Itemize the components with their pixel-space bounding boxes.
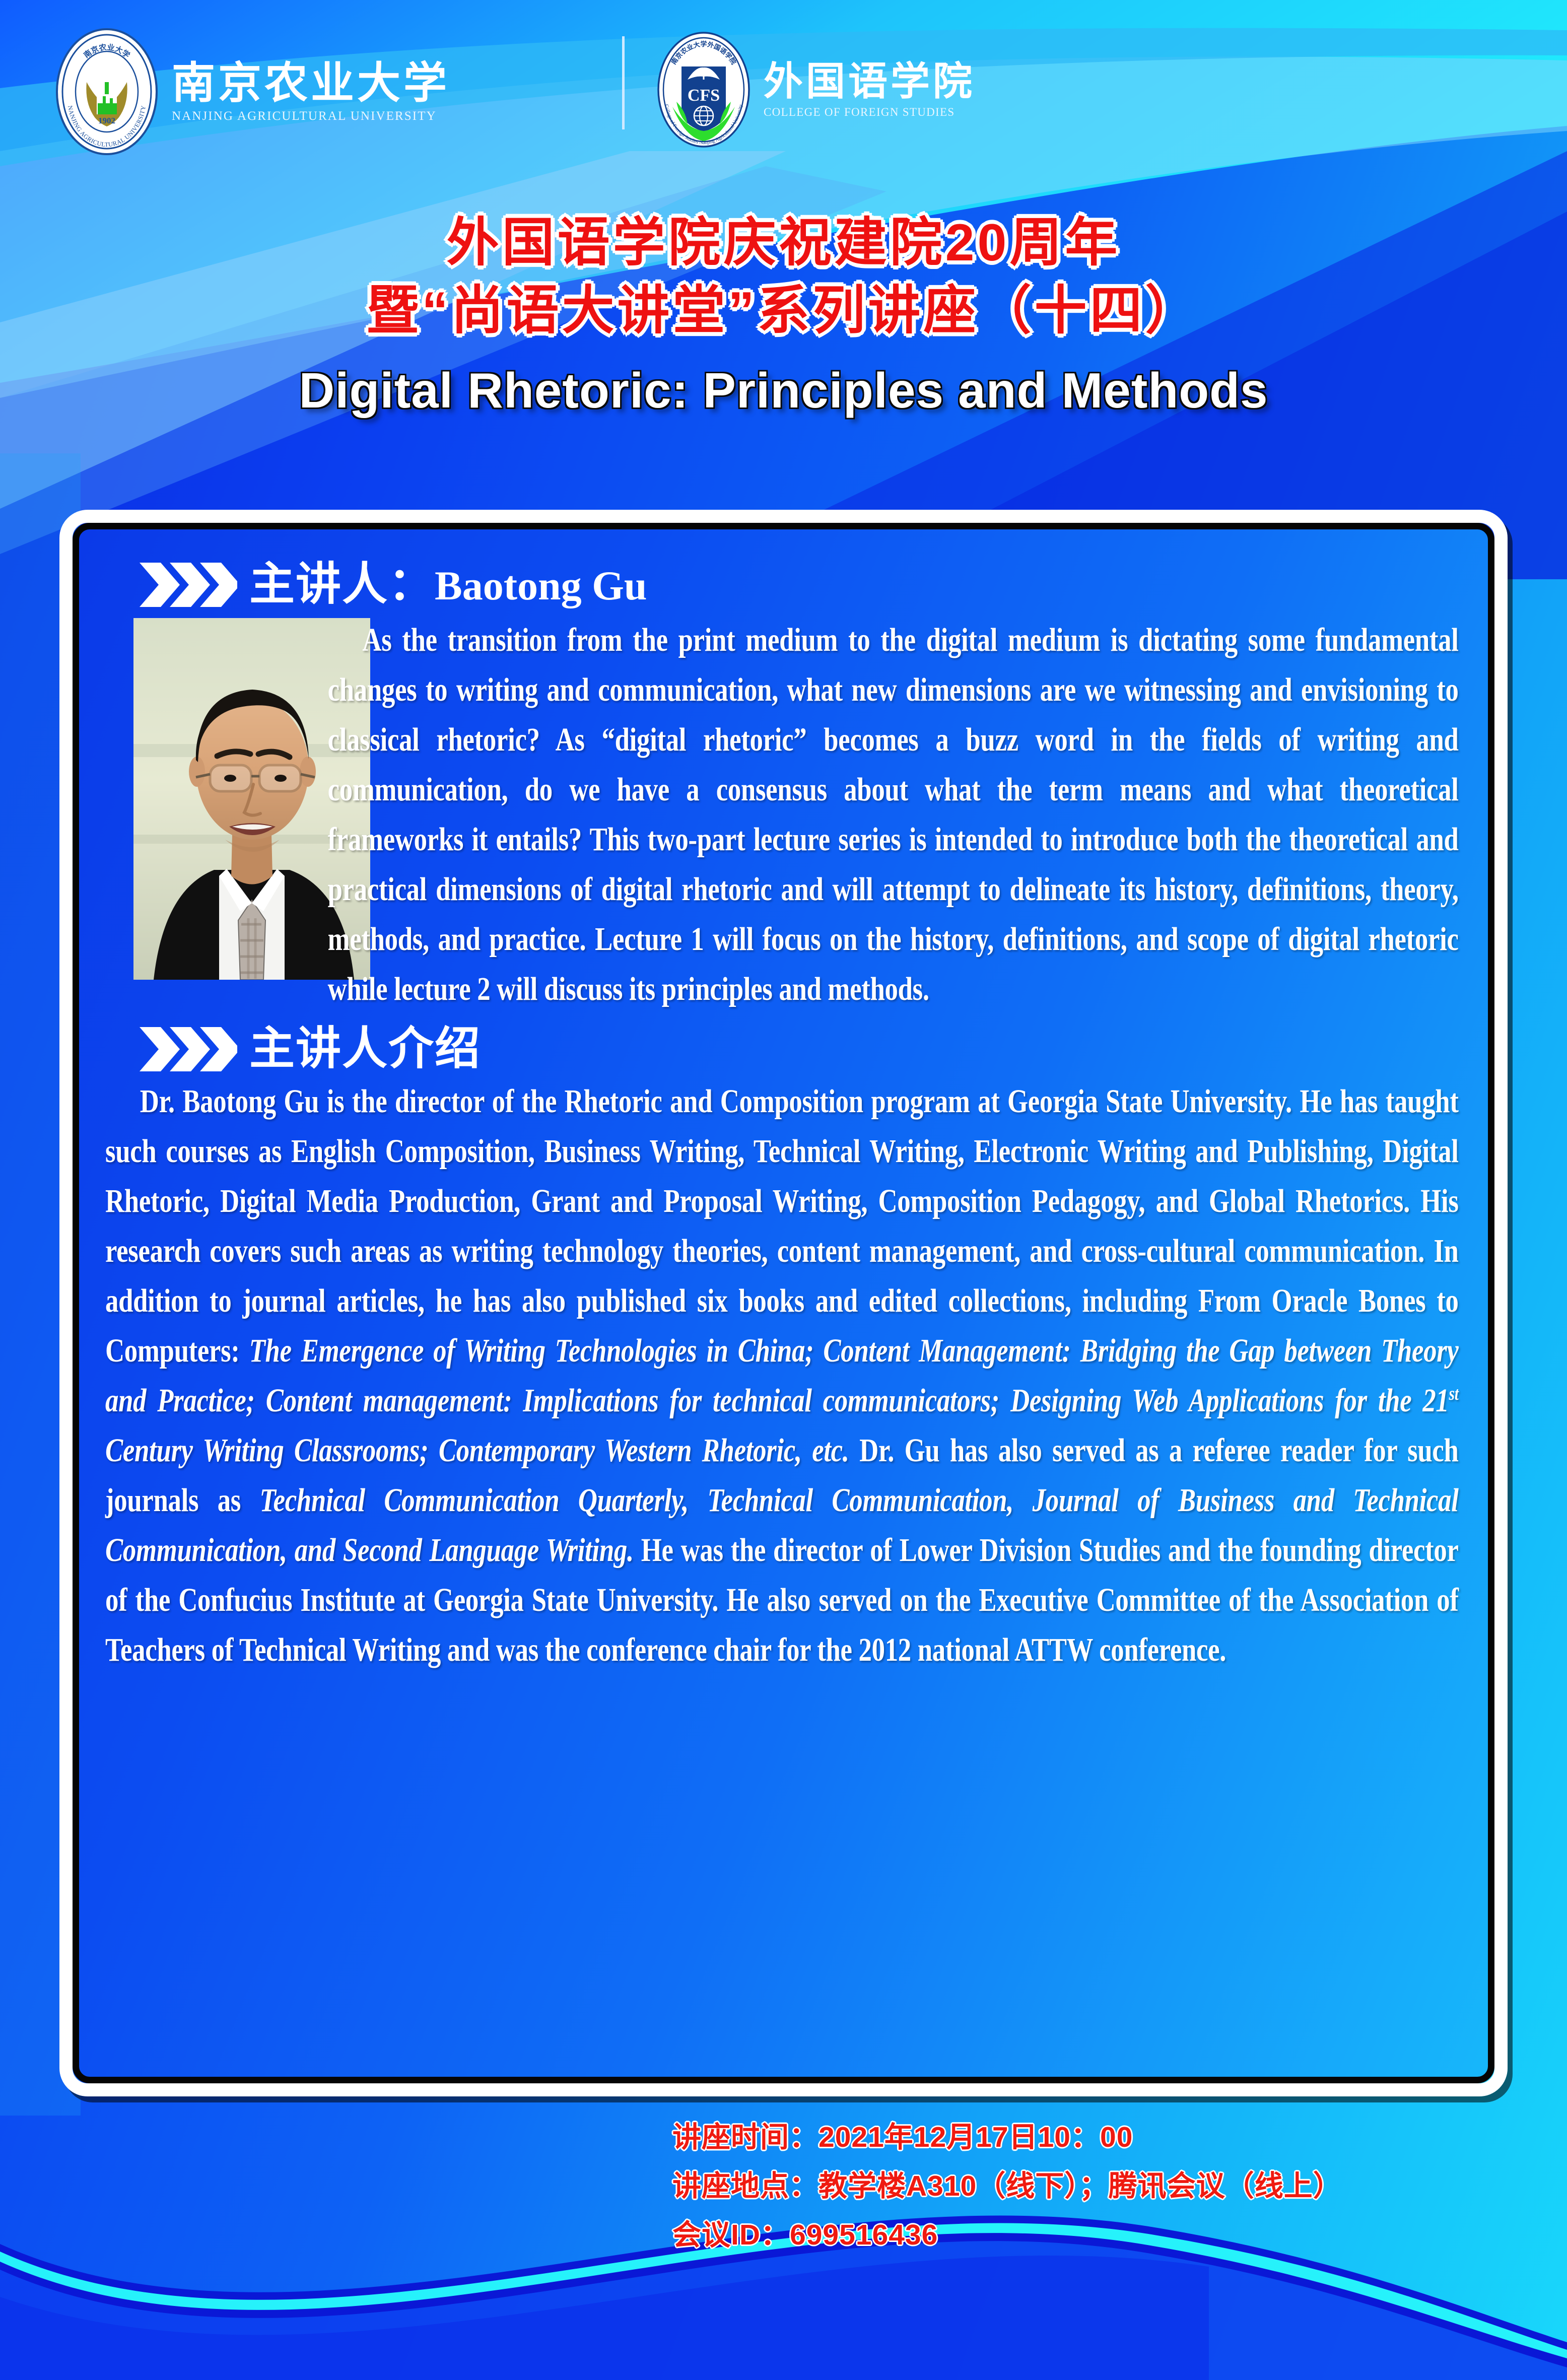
university-name-en: NANJING AGRICULTURAL UNIVERSITY (172, 110, 450, 122)
speaker-name: Baotong Gu (435, 563, 647, 608)
svg-text:CFS: CFS (688, 86, 720, 105)
bio-ordinal-suffix: st (1449, 1383, 1459, 1404)
bio-heading-text: 主讲人介绍 (249, 1027, 481, 1072)
bio-book-titles-italic-b: Century Writing Classrooms; Contemporary… (105, 1432, 849, 1469)
speaker-label-cn: 主讲人： (249, 560, 435, 609)
meeting-id: 会议ID：699516436 (672, 2211, 1342, 2260)
title-block: 外国语学院庆祝建院20周年 暨“尚语大讲堂”系列讲座（十四） Digital R… (0, 209, 1567, 419)
triple-chevron-right-icon (137, 561, 237, 609)
university-logo-group: 1902 南京农业大学 NANJING AGRICULTURAL UNIVERS… (55, 28, 450, 156)
triple-chevron-right-icon (137, 1025, 237, 1073)
content-card: 主讲人：Baotong Gu (59, 510, 1508, 2096)
title-cn-line2: 暨“尚语大讲堂”系列讲座（十四） (0, 277, 1567, 345)
lecture-place: 讲座地点：教学楼A310（线下）；腾讯会议（线上） (672, 2162, 1342, 2211)
nanjing-agricultural-university-seal-icon: 1902 南京农业大学 NANJING AGRICULTURAL UNIVERS… (55, 28, 159, 156)
title-english: Digital Rhetoric: Principles and Methods (0, 362, 1567, 419)
college-name-en: COLLEGE OF FOREIGN STUDIES (764, 106, 975, 118)
svg-text:1902: 1902 (98, 116, 115, 125)
university-name-cn: 南京农业大学 (172, 61, 450, 105)
event-details-footer: 讲座时间：2021年12月17日10：00 讲座地点：教学楼A310（线下）；腾… (672, 2113, 1342, 2260)
title-cn-line1: 外国语学院庆祝建院20周年 (0, 209, 1567, 277)
bio-part-1: Dr. Baotong Gu is the director of the Rh… (105, 1083, 1459, 1369)
bio-book-titles-italic: The Emergence of Writing Technologies in… (105, 1332, 1459, 1419)
poster-root: 1902 南京农业大学 NANJING AGRICULTURAL UNIVERS… (0, 0, 1567, 2380)
abstract-paragraph: As the transition from the print medium … (105, 615, 1462, 1014)
lecture-time: 讲座时间：2021年12月17日10：00 (672, 2113, 1342, 2162)
college-logo-group: CFS 南京农业大学外国语学院 College of Foreign Studi… (657, 31, 975, 148)
bio-section-heading: 主讲人介绍 (137, 1025, 1462, 1073)
speaker-label: 主讲人：Baotong Gu (249, 562, 647, 607)
college-name-cn: 外国语学院 (764, 62, 975, 101)
speaker-section-heading: 主讲人：Baotong Gu (137, 561, 1462, 609)
abstract-text: As the transition from the print medium … (328, 622, 1459, 1007)
poster-header: 1902 南京农业大学 NANJING AGRICULTURAL UNIVERS… (0, 0, 1567, 171)
bio-paragraph: Dr. Baotong Gu is the director of the Rh… (105, 1076, 1462, 1675)
college-of-foreign-studies-seal-icon: CFS 南京农业大学外国语学院 College of Foreign Studi… (657, 31, 751, 148)
logo-divider (622, 36, 625, 129)
content-card-inner: 主讲人：Baotong Gu (73, 523, 1494, 2083)
